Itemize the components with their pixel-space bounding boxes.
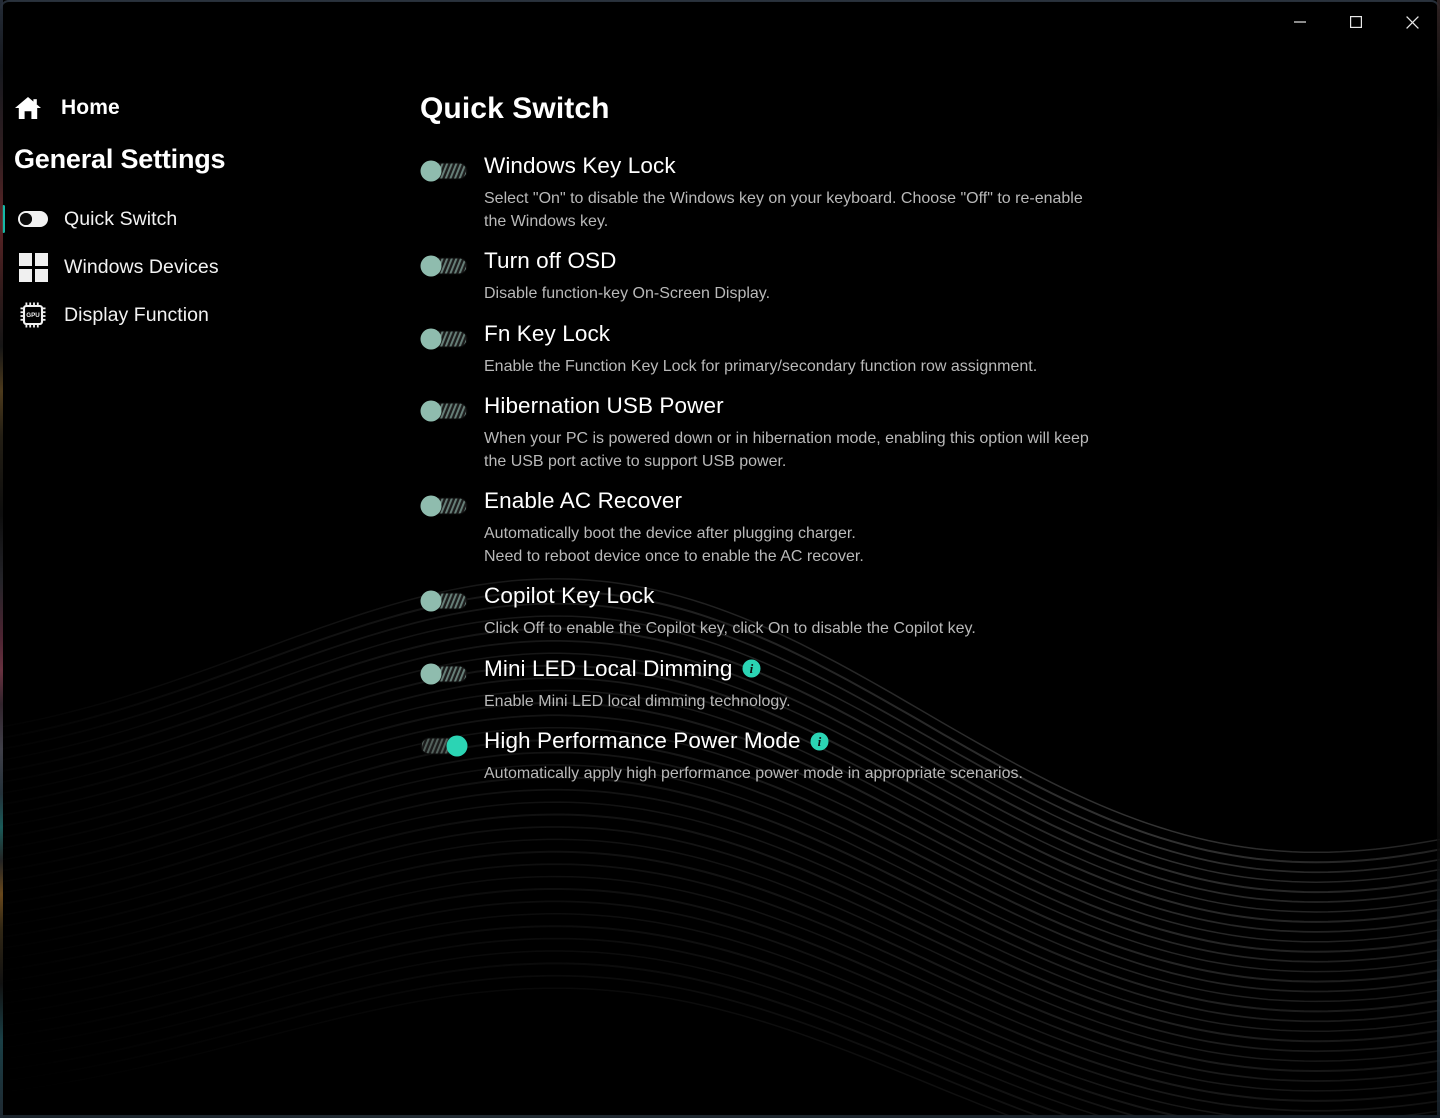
setting-title: High Performance Power Mode: [484, 727, 801, 755]
setting-title: Enable AC Recover: [484, 487, 682, 515]
setting-title-row: Windows Key Lock: [484, 152, 1440, 180]
setting-body: Enable AC Recover Automatically boot the…: [484, 487, 1440, 580]
setting-description: Automatically boot the device after plug…: [484, 523, 1144, 568]
setting-toggle[interactable]: [420, 590, 468, 612]
setting-title-row: Turn off OSD: [484, 247, 1440, 275]
setting-toggle[interactable]: [420, 663, 468, 685]
sidebar-item-label: Windows Devices: [64, 256, 219, 279]
setting-title-row: High Performance Power Mode i: [484, 727, 1440, 755]
setting-body: Windows Key Lock Select "On" to disable …: [484, 152, 1440, 245]
sidebar-item-quick-switch[interactable]: Quick Switch: [0, 195, 400, 243]
setting-description: Enable the Function Key Lock for primary…: [484, 356, 1144, 379]
setting-description: Automatically apply high performance pow…: [484, 763, 1144, 786]
setting-description: When your PC is powered down or in hiber…: [484, 428, 1144, 473]
setting-body: Hibernation USB Power When your PC is po…: [484, 392, 1440, 485]
setting-body: Turn off OSD Disable function-key On-Scr…: [484, 247, 1440, 318]
setting-title-row: Fn Key Lock: [484, 320, 1440, 348]
setting-toggle[interactable]: [420, 400, 468, 422]
close-button[interactable]: [1384, 0, 1440, 44]
sidebar-item-windows-devices[interactable]: Windows Devices: [0, 243, 400, 291]
setting-row: Enable AC Recover Automatically boot the…: [400, 487, 1440, 580]
sidebar-item-label: Quick Switch: [64, 208, 177, 231]
sidebar-item-label: Display Function: [64, 304, 209, 327]
close-icon: [1405, 15, 1420, 30]
setting-row: Windows Key Lock Select "On" to disable …: [400, 152, 1440, 245]
setting-body: Mini LED Local Dimming i Enable Mini LED…: [484, 655, 1440, 726]
setting-toggle[interactable]: [420, 255, 468, 277]
setting-title: Copilot Key Lock: [484, 582, 654, 610]
sidebar-item-display-function[interactable]: GPU Display Function: [0, 291, 400, 339]
home-icon: [13, 93, 43, 123]
minimize-button[interactable]: [1272, 0, 1328, 44]
setting-row: Hibernation USB Power When your PC is po…: [400, 392, 1440, 485]
setting-description: Enable Mini LED local dimming technology…: [484, 691, 1144, 714]
setting-description: Click Off to enable the Copilot key, cli…: [484, 618, 1144, 641]
setting-row: High Performance Power Mode i Automatica…: [400, 727, 1440, 798]
setting-title-row: Enable AC Recover: [484, 487, 1440, 515]
app-window: Home General Settings Quick Switch Windo…: [0, 0, 1440, 1118]
info-button[interactable]: i: [810, 732, 829, 751]
svg-text:i: i: [817, 734, 821, 749]
toggle-off-icon: [420, 328, 468, 350]
setting-body: Copilot Key Lock Click Off to enable the…: [484, 582, 1440, 653]
title-bar: [0, 0, 1440, 46]
setting-row: Fn Key Lock Enable the Function Key Lock…: [400, 320, 1440, 391]
setting-title-row: Copilot Key Lock: [484, 582, 1440, 610]
sidebar: Home General Settings Quick Switch Windo…: [0, 0, 400, 1118]
setting-body: High Performance Power Mode i Automatica…: [484, 727, 1440, 798]
toggle-on-icon: [420, 735, 468, 757]
section-title: General Settings: [0, 144, 400, 175]
info-icon[interactable]: i: [742, 659, 761, 678]
toggle-off-icon: [420, 400, 468, 422]
maximize-button[interactable]: [1328, 0, 1384, 44]
setting-title: Hibernation USB Power: [484, 392, 724, 420]
setting-body: Fn Key Lock Enable the Function Key Lock…: [484, 320, 1440, 391]
setting-toggle[interactable]: [420, 328, 468, 350]
svg-text:i: i: [749, 661, 753, 676]
toggle-off-icon: [420, 590, 468, 612]
info-button[interactable]: i: [742, 659, 761, 678]
main-content: Quick Switch Windows Key Lock Select "On…: [400, 0, 1440, 1118]
toggle-off-icon: [420, 495, 468, 517]
settings-list: Windows Key Lock Select "On" to disable …: [400, 152, 1440, 798]
home-button[interactable]: Home: [0, 86, 400, 130]
setting-title-row: Hibernation USB Power: [484, 392, 1440, 420]
setting-row: Mini LED Local Dimming i Enable Mini LED…: [400, 655, 1440, 726]
minimize-icon: [1293, 15, 1307, 29]
setting-title: Windows Key Lock: [484, 152, 676, 180]
setting-toggle[interactable]: [420, 495, 468, 517]
windows-icon: [18, 252, 48, 282]
gpu-chip-icon: GPU: [18, 300, 48, 330]
setting-description: Select "On" to disable the Windows key o…: [484, 188, 1144, 233]
maximize-icon: [1349, 15, 1363, 29]
home-label: Home: [61, 96, 120, 120]
info-icon[interactable]: i: [810, 732, 829, 751]
page-title: Quick Switch: [420, 92, 1440, 126]
setting-title: Turn off OSD: [484, 247, 617, 275]
toggle-off-icon: [420, 663, 468, 685]
setting-title-row: Mini LED Local Dimming i: [484, 655, 1440, 683]
setting-toggle[interactable]: [420, 735, 468, 757]
svg-text:GPU: GPU: [26, 312, 40, 319]
setting-toggle[interactable]: [420, 160, 468, 182]
setting-row: Copilot Key Lock Click Off to enable the…: [400, 582, 1440, 653]
toggle-off-icon: [420, 160, 468, 182]
setting-title: Fn Key Lock: [484, 320, 610, 348]
setting-row: Turn off OSD Disable function-key On-Scr…: [400, 247, 1440, 318]
setting-title: Mini LED Local Dimming: [484, 655, 733, 683]
toggle-off-icon: [420, 255, 468, 277]
toggle-icon: [18, 204, 48, 234]
setting-description: Disable function-key On-Screen Display.: [484, 283, 1144, 306]
